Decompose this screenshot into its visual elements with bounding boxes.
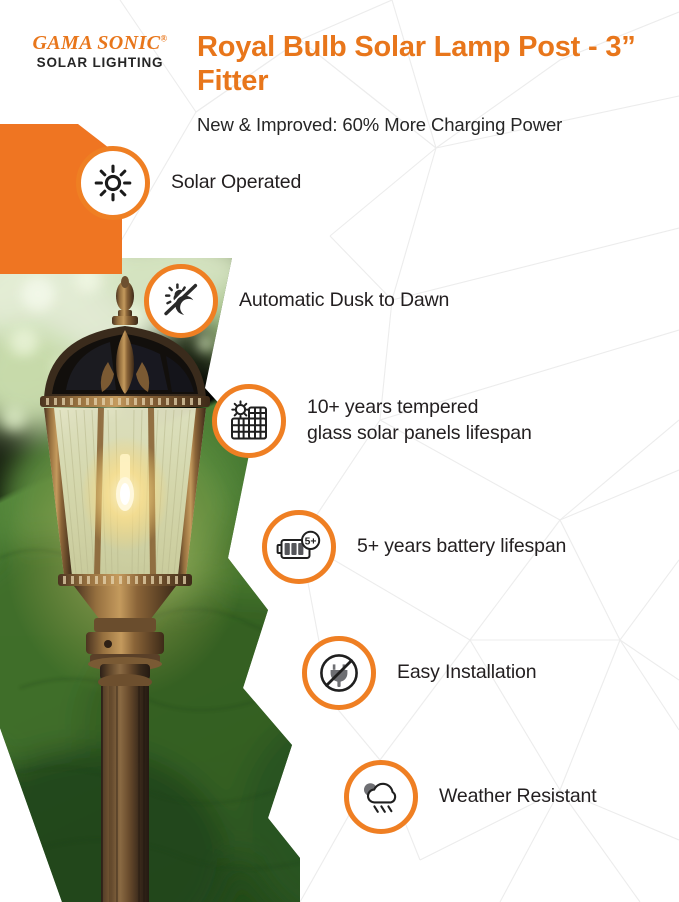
feature-icon-circle: 5+ [262,510,336,584]
page-subtitle: New & Improved: 60% More Charging Power [197,114,667,136]
battery-badge-text: 5+ [305,536,317,547]
feature-label: Easy Installation [397,660,536,686]
feature-icon-circle [212,384,286,458]
sun-moon-icon [160,280,202,322]
no-plug-icon [317,651,361,695]
infographic-canvas: GAMA SONIC® SOLAR LIGHTING Royal Bulb So… [0,0,679,902]
brand-name: GAMA SONIC® [20,33,180,53]
feature-icon-circle [76,146,150,220]
sun-icon [93,163,133,203]
feature-row-solar-panel-lifespan: 10+ years tempered glass solar panels li… [212,384,532,458]
brand-tagline: SOLAR LIGHTING [20,56,180,70]
brand-logo: GAMA SONIC® SOLAR LIGHTING [20,33,180,70]
feature-label: Weather Resistant [439,784,597,810]
battery-icon: 5+ [276,530,322,564]
feature-icon-circle [302,636,376,710]
feature-row-battery-lifespan: 5+ 5+ years battery lifespan [262,510,566,584]
feature-row-weather-resistant: Weather Resistant [344,760,597,834]
feature-label: Automatic Dusk to Dawn [239,288,449,314]
feature-icon-circle [144,264,218,338]
feature-row-dusk-to-dawn: Automatic Dusk to Dawn [144,264,449,338]
feature-row-easy-installation: Easy Installation [302,636,536,710]
feature-label: 10+ years tempered glass solar panels li… [307,395,532,446]
feature-row-solar-operated: Solar Operated [76,146,301,220]
registered-mark: ® [160,33,167,43]
page-title: Royal Bulb Solar Lamp Post - 3” Fitter [197,31,667,99]
feature-label: Solar Operated [171,170,301,196]
rain-cloud-icon [359,778,403,816]
feature-label: 5+ years battery lifespan [357,534,566,560]
solar-panel-icon [227,400,271,442]
feature-icon-circle [344,760,418,834]
